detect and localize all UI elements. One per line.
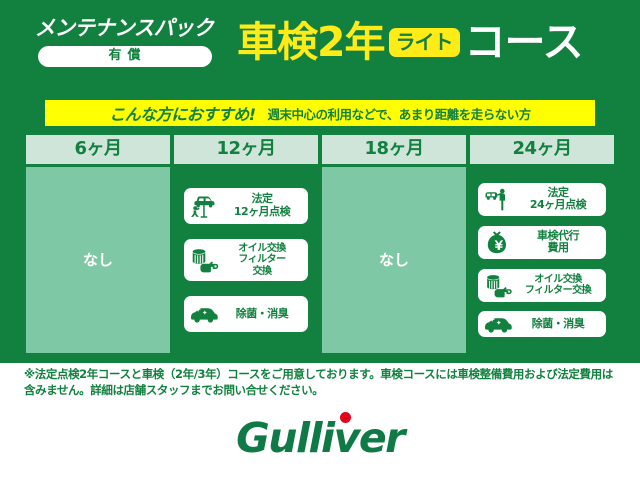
plan-table-region: こんな方におすすめ! 週末中心の利用などで、あまり距離を走らない方 6ヶ月 なし… bbox=[0, 85, 640, 363]
maintenance-pack-block: メンテナンスパック 有償 bbox=[22, 18, 227, 67]
service-card-label: オイル交換フィルター交換 bbox=[513, 274, 603, 297]
column-header-12m: 12ヶ月 bbox=[174, 135, 318, 164]
paid-badge: 有償 bbox=[38, 46, 212, 67]
column-body-12m: 法定12ヶ月点検 bbox=[174, 167, 318, 353]
plan-column-18m: 18ヶ月 なし bbox=[322, 135, 466, 353]
recommendation-headline: こんな方におすすめ! bbox=[109, 101, 255, 125]
promo-page: メンテナンスパック 有償 車検2年 ライト コース こんな方におすすめ! 週末中… bbox=[0, 0, 640, 480]
column-body-24m: 法定24ヶ月点検 車検代行費用 bbox=[470, 167, 614, 353]
service-card-oil-filter-24m: オイル交換フィルター交換 bbox=[478, 269, 606, 302]
plan-column-24m: 24ヶ月 bbox=[470, 135, 614, 353]
headline-main: 車検2年 bbox=[237, 22, 385, 63]
service-card-legal-24m-inspection: 法定24ヶ月点検 bbox=[478, 183, 606, 216]
service-card-label: 除菌・消臭 bbox=[219, 308, 305, 321]
none-label-6m: なし bbox=[83, 249, 113, 270]
column-body-6m: なし bbox=[26, 167, 170, 353]
column-header-24m: 24ヶ月 bbox=[470, 135, 614, 164]
recommendation-detail: 週末中心の利用などで、あまり距離を走らない方 bbox=[268, 104, 531, 123]
car-lift-inspection-icon bbox=[189, 194, 219, 218]
service-card-inspection-agency-fee: 車検代行費用 bbox=[478, 226, 606, 259]
headline: 車検2年 ライト コース bbox=[237, 22, 582, 63]
service-card-label: 除菌・消臭 bbox=[513, 318, 603, 331]
car-sanitize-icon bbox=[189, 305, 219, 323]
car-inspection-person-icon bbox=[483, 187, 513, 211]
footnote-line-1: ※法定点検2年コースと車検（2年/3年）コースをご用意しております。車検コースに… bbox=[24, 366, 618, 382]
service-card-label: オイル交換フィルター交換 bbox=[219, 243, 305, 278]
footnote-line-2: 含みません。詳細は店舗スタッフまでお問い合せください。 bbox=[24, 382, 618, 398]
gulliver-logo: Gulliver bbox=[236, 414, 404, 462]
service-card-sanitize-24m: 除菌・消臭 bbox=[478, 311, 606, 337]
oil-filter-change-icon bbox=[189, 247, 219, 273]
plan-grid: 6ヶ月 なし 12ヶ月 bbox=[26, 135, 614, 353]
column-header-18m: 18ヶ月 bbox=[322, 135, 466, 164]
recommendation-bar: こんな方におすすめ! 週末中心の利用などで、あまり距離を走らない方 bbox=[45, 100, 595, 126]
column-body-18m: なし bbox=[322, 167, 466, 353]
service-card-oil-filter-12m: オイル交換フィルター交換 bbox=[184, 239, 308, 282]
car-sanitize-icon bbox=[483, 315, 513, 333]
maintenance-pack-title: メンテナンスパック bbox=[35, 18, 214, 39]
footnote: ※法定点検2年コースと車検（2年/3年）コースをご用意しております。車検コースに… bbox=[24, 366, 618, 399]
headline-suffix: コース bbox=[465, 22, 583, 63]
oil-filter-change-icon bbox=[483, 273, 513, 298]
service-card-label: 法定12ヶ月点検 bbox=[219, 193, 305, 218]
service-card-label: 法定24ヶ月点検 bbox=[513, 187, 603, 212]
service-card-legal-12m-inspection: 法定12ヶ月点検 bbox=[184, 188, 308, 224]
brand-logo-wrap: Gulliver bbox=[0, 414, 640, 462]
top-banner: メンテナンスパック 有償 車検2年 ライト コース bbox=[0, 0, 640, 85]
light-course-badge: ライト bbox=[389, 28, 460, 57]
money-bag-yen-icon bbox=[483, 230, 513, 255]
column-header-6m: 6ヶ月 bbox=[26, 135, 170, 164]
gulliver-logo-text: Gulliver bbox=[236, 414, 404, 462]
plan-column-6m: 6ヶ月 なし bbox=[26, 135, 170, 353]
plan-column-12m: 12ヶ月 bbox=[174, 135, 318, 353]
none-label-18m: なし bbox=[379, 249, 409, 270]
service-card-label: 車検代行費用 bbox=[513, 230, 603, 255]
service-card-sanitize-12m: 除菌・消臭 bbox=[184, 296, 308, 332]
